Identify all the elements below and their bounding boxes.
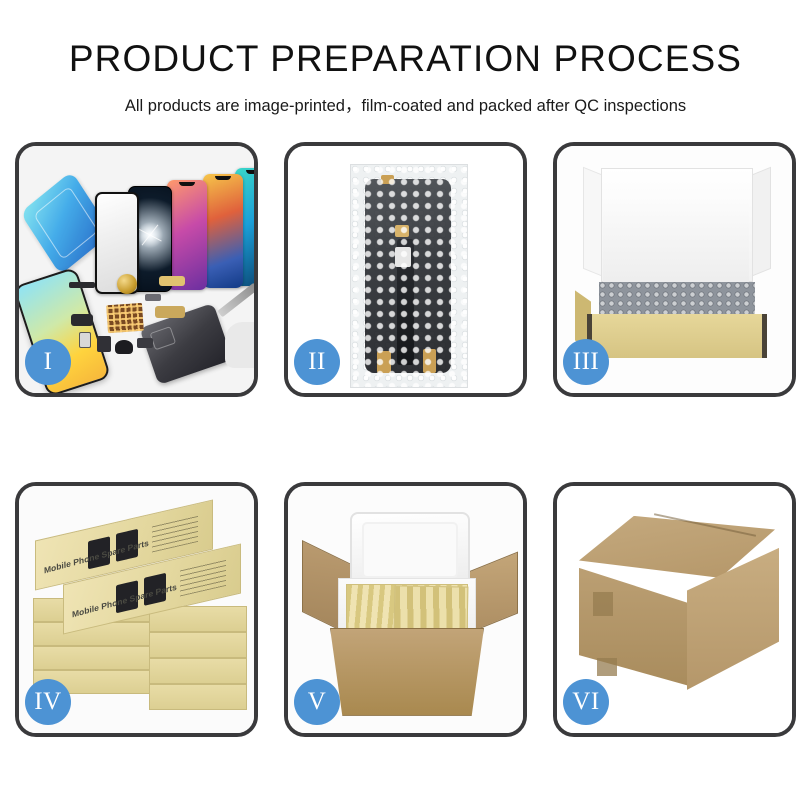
spec-text-lines	[152, 514, 198, 553]
flex-cable-icon	[69, 282, 95, 288]
hand-icon	[225, 322, 254, 368]
phone-screen-icon	[167, 180, 207, 290]
speaker-icon	[115, 340, 133, 354]
carton-tape-icon	[593, 592, 613, 616]
page-header: PRODUCT PREPARATION PROCESS All products…	[0, 0, 811, 116]
foam-lid-icon	[350, 512, 470, 588]
packed-boxes-icon	[394, 585, 469, 632]
notch-icon	[215, 176, 231, 180]
step-badge-i: I	[25, 339, 71, 385]
chip-icon	[395, 247, 411, 267]
component-icon	[71, 314, 93, 326]
stacked-box	[149, 632, 247, 658]
phone-display-row	[95, 170, 254, 290]
step-badge-v: V	[294, 679, 340, 725]
step-panel-v: V	[284, 482, 527, 737]
stacked-box	[149, 658, 247, 684]
step-panel-vi: VI	[553, 482, 796, 737]
step-badge-vi: VI	[563, 679, 609, 725]
bubble-wrap-contents-icon	[599, 282, 755, 318]
step-panel-iii: III	[553, 142, 796, 397]
step-badge-ii: II	[294, 339, 340, 385]
connector-icon	[377, 351, 391, 373]
logic-board-icon	[106, 303, 144, 333]
process-steps-grid: I II	[0, 142, 811, 737]
stacked-box	[33, 646, 153, 670]
box-edge-icon	[762, 314, 767, 358]
product-preparation-page: PRODUCT PREPARATION PROCESS All products…	[0, 0, 811, 811]
step-panel-iv: Mobile Phone Spare Parts Mobile Phone Sp…	[15, 482, 258, 737]
notch-icon	[246, 170, 254, 174]
stacked-box	[149, 684, 247, 710]
wireless-coil-icon	[117, 274, 137, 294]
carton-tape-icon	[597, 658, 617, 676]
box-interior-icon	[603, 202, 749, 286]
page-subtitle: All products are image-printed，film-coat…	[0, 92, 811, 116]
notch-icon	[179, 182, 195, 186]
step-badge-iii: III	[563, 339, 609, 385]
step-panel-i: I	[15, 142, 258, 397]
component-icon	[145, 294, 161, 301]
spec-text-lines	[180, 558, 226, 597]
sim-tray-icon	[79, 332, 91, 348]
component-icon	[97, 336, 111, 352]
connector-icon	[159, 276, 185, 286]
step-badge-iv: IV	[25, 679, 71, 725]
box-front-icon	[587, 314, 767, 358]
connector-icon	[423, 349, 436, 373]
carton-body-icon	[330, 628, 484, 716]
component-icon	[137, 338, 153, 348]
step-panel-ii: II	[284, 142, 527, 397]
cracked-glass-icon	[135, 220, 165, 250]
phone-screen-icon	[203, 174, 243, 288]
bubble-wrap-bag-icon	[350, 164, 468, 388]
connector-icon	[381, 175, 394, 184]
connector-icon	[155, 306, 185, 318]
page-title: PRODUCT PREPARATION PROCESS	[0, 40, 811, 79]
connector-icon	[395, 225, 409, 237]
